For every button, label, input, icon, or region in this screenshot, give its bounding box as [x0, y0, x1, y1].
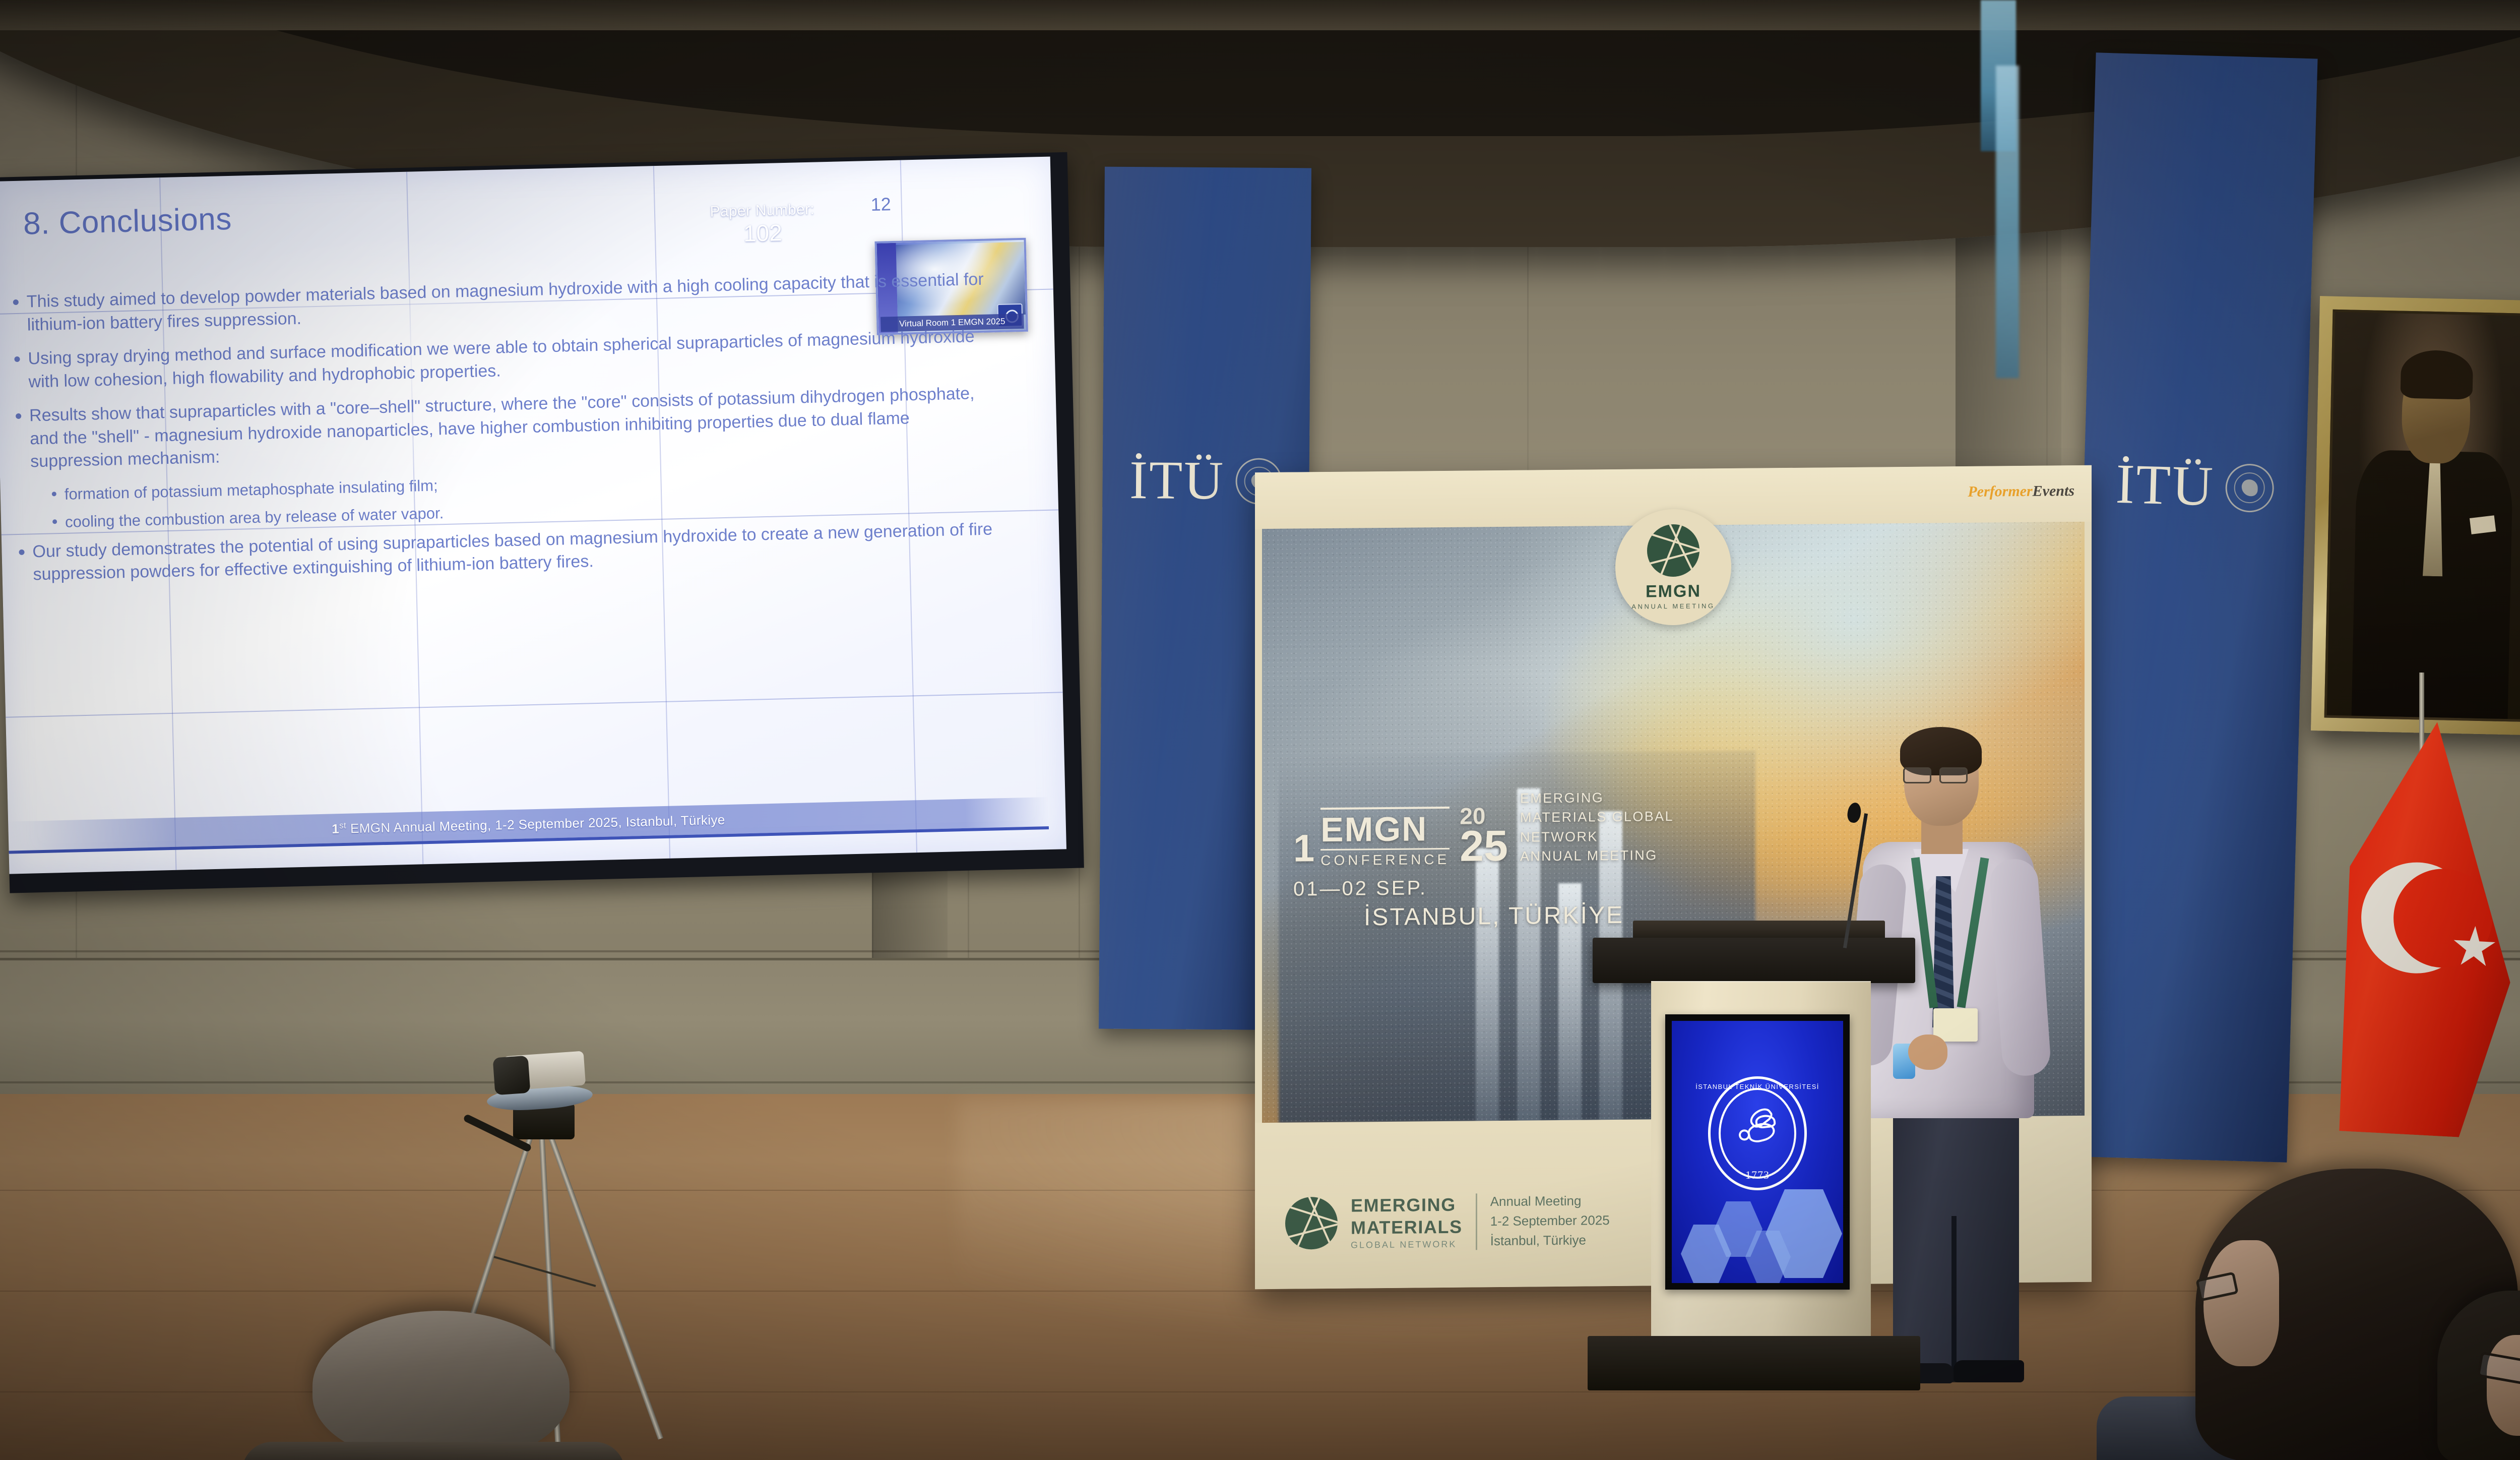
lockup-year-long: 25	[1460, 826, 1508, 867]
brand-subtitle: GLOBAL NETWORK	[1351, 1239, 1463, 1251]
audience-shoulders-left	[242, 1442, 625, 1460]
paper-number-value: 102	[710, 219, 815, 246]
slide-footer-text: 1st EMGN Annual Meeting, 1-2 September 2…	[332, 811, 725, 837]
lockup-desc-1: EMERGING	[1520, 787, 1674, 808]
emerging-materials-wordmark: EMERGING MATERIALS GLOBAL NETWORK	[1351, 1193, 1463, 1250]
ataturk-portrait-canvas	[2324, 310, 2520, 722]
backdrop-footer-lockup: EMERGING MATERIALS GLOBAL NETWORK Annual…	[1285, 1191, 1610, 1253]
lockup-desc-3: NETWORK	[1520, 826, 1674, 847]
speaker-name-badge	[1933, 1008, 1978, 1042]
bullet-dot-icon	[16, 413, 21, 419]
projection-screen: 8. Conclusions Paper Number: 102 12 Virt…	[0, 152, 1084, 893]
seal-ring-text: İSTANBUL TEKNİK ÜNİVERSİTESİ	[1695, 1083, 1819, 1090]
speaker-leg-gap	[1951, 1216, 1957, 1382]
wall-light-slot-icon	[1996, 66, 2019, 378]
paper-number-label: Paper Number:	[710, 202, 814, 220]
bullet-dot-icon	[19, 550, 24, 555]
bullet-dot-icon	[52, 520, 57, 524]
hexagon-pattern	[1672, 1177, 1843, 1283]
emerging-materials-globe-icon	[1285, 1196, 1338, 1249]
brand-line-2: MATERIALS	[1351, 1216, 1463, 1240]
lockup-year-short: 20	[1460, 805, 1508, 827]
slide-bullet-text: Results show that supraparticles with a …	[29, 382, 1002, 473]
slide-bullet-text: Using spray drying method and surface mo…	[28, 325, 1000, 393]
slide-body: This study aimed to develop powder mater…	[13, 268, 1004, 598]
speaker-shoe-right	[1954, 1360, 2024, 1382]
lockup-emgn: EMGN	[1320, 810, 1427, 849]
podium-display: İSTANBUL TEKNİK ÜNİVERSİTESİ 1773	[1665, 1014, 1850, 1290]
slide-number: 12	[870, 194, 891, 215]
ceiling-strip	[0, 0, 2520, 30]
emgn-globe-icon	[1647, 524, 1699, 577]
sponsor-name-orange: Performer	[1968, 483, 2032, 500]
slide-bullet: Using spray drying method and surface mo…	[14, 325, 1000, 394]
lockup-row: 1 EMGN CONFERENCE 20 25 EMERGING MATERIA…	[1293, 787, 1674, 868]
sponsor-performer-events: PerformerEvents	[1968, 482, 2074, 501]
emgn-logo-badge: EMGN ANNUAL MEETING	[1615, 509, 1731, 626]
speaker-glasses-icon	[1903, 767, 1974, 784]
footer-meta-2: 1-2 September 2025	[1490, 1210, 1610, 1231]
presentation-slide: 8. Conclusions Paper Number: 102 12 Virt…	[0, 157, 1066, 874]
slide-bullet: Results show that supraparticles with a …	[16, 382, 1002, 474]
portrait-hair	[2400, 350, 2473, 400]
bullet-dot-icon	[52, 492, 56, 496]
emgn-logo-name: EMGN	[1646, 582, 1701, 602]
lockup-city: İSTANBUL, TÜRKİYE	[1293, 903, 1674, 931]
lockup-ordinal: 1	[1293, 830, 1313, 868]
slide-bullet-text: This study aimed to develop powder mater…	[26, 268, 998, 336]
itu-bee-icon	[1732, 1110, 1783, 1158]
itu-university-seal-icon: İSTANBUL TEKNİK ÜNİVERSİTESİ 1773	[1708, 1076, 1807, 1190]
lockup-date: 01—02 SEP.	[1293, 876, 1674, 899]
audience-head-left	[312, 1311, 570, 1460]
lockup-year: 20 25	[1460, 805, 1508, 867]
screen-surface: 8. Conclusions Paper Number: 102 12 Virt…	[0, 157, 1066, 874]
audience-face	[2203, 1240, 2279, 1366]
conference-room-photo: 8. Conclusions Paper Number: 102 12 Virt…	[0, 0, 2520, 1460]
tripod-brace	[494, 1256, 596, 1287]
lockup-desc-2: MATERIALS GLOBAL	[1520, 807, 1674, 827]
portrait-pocket-square	[2470, 515, 2496, 534]
camera-lens-icon	[493, 1056, 531, 1096]
sponsor-name-dark: Events	[2033, 482, 2074, 500]
ataturk-portrait-frame	[2311, 296, 2520, 736]
lockup-conference: CONFERENCE	[1320, 853, 1450, 868]
bullet-dot-icon	[14, 356, 20, 362]
slide-bullet: This study aimed to develop powder mater…	[13, 268, 998, 337]
bullet-dot-icon	[13, 299, 19, 305]
lockup-emgn-block: EMGN CONFERENCE	[1320, 807, 1450, 868]
footer-meta: Annual Meeting 1-2 September 2025 İstanb…	[1490, 1191, 1610, 1251]
footer-divider	[1476, 1193, 1477, 1250]
podium-desktop	[1593, 938, 1915, 983]
footer-meta-1: Annual Meeting	[1490, 1191, 1610, 1211]
conference-lockup: 1 EMGN CONFERENCE 20 25 EMERGING MATERIA…	[1293, 787, 1674, 931]
lockup-desc-4: ANNUAL MEETING	[1520, 845, 1674, 866]
brand-line-1: EMERGING	[1351, 1193, 1463, 1217]
paper-number-badge: Paper Number: 102	[710, 202, 815, 247]
slide-title: 8. Conclusions	[23, 201, 232, 242]
footer-meta-3: İstanbul, Türkiye	[1490, 1230, 1610, 1251]
podium-base	[1588, 1336, 1920, 1390]
slide-footer: 1st EMGN Annual Meeting, 1-2 September 2…	[8, 797, 1049, 854]
podium-display-content: İSTANBUL TEKNİK ÜNİVERSİTESİ 1773	[1672, 1021, 1843, 1283]
lockup-description: EMERGING MATERIALS GLOBAL NETWORK ANNUAL…	[1520, 787, 1674, 866]
lectern-podium: İSTANBUL TEKNİK ÜNİVERSİTESİ 1773	[1603, 938, 1915, 1391]
emgn-logo-subtitle: ANNUAL MEETING	[1631, 602, 1715, 610]
